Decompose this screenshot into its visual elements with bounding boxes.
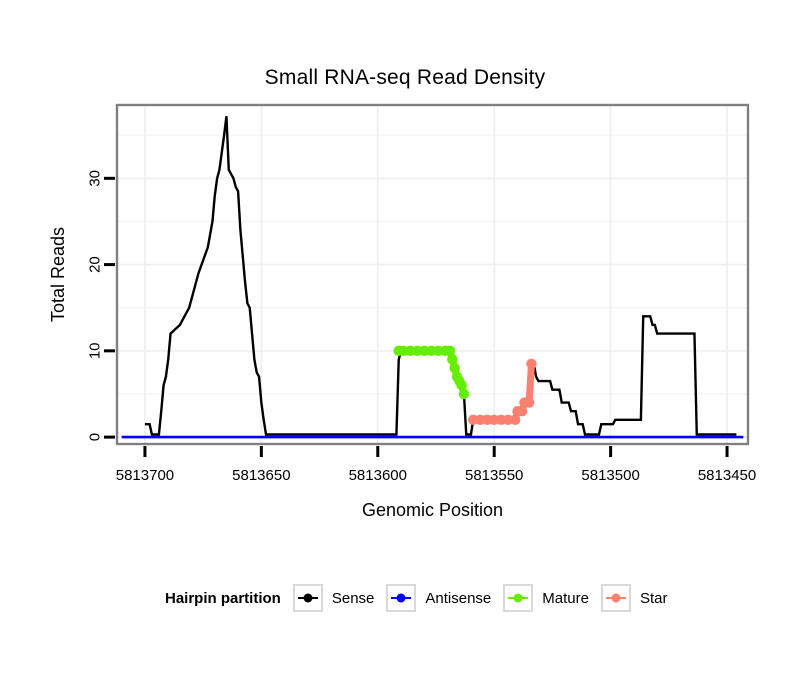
legend-entry-antisense[interactable]: Antisense [374,584,491,612]
legend-dot-icon [303,594,312,603]
series-point-star [526,359,536,369]
legend-entry-star[interactable]: Star [589,584,668,612]
series-point-star [524,397,534,407]
y-tick-label: 20 [87,256,104,273]
y-tick-label: 30 [87,170,104,187]
x-tick-label: 5813500 [581,467,639,484]
x-axis-label: Genomic Position [362,500,503,520]
legend-label: Mature [542,590,589,607]
series-point-mature [459,389,469,399]
legend-label: Sense [332,590,375,607]
legend-label: Star [640,590,668,607]
legend: Hairpin partition SenseAntisenseMatureSt… [165,584,667,612]
chart-canvas: Small RNA-seq Read Density 5813700581365… [0,0,810,690]
x-tick-label: 5813550 [465,467,523,484]
legend-key-mature-icon [503,584,533,612]
legend-key-star-icon [601,584,631,612]
legend-entry-sense[interactable]: Sense [281,584,375,612]
plot-background [117,105,748,444]
y-tick-label: 0 [87,433,104,441]
legend-dot-icon [611,594,620,603]
y-tick-label: 10 [87,342,104,359]
x-tick-label: 5813600 [349,467,407,484]
y-axis-label: Total Reads [48,227,68,322]
legend-key-antisense-icon [386,584,416,612]
x-tick-label: 5813650 [232,467,290,484]
legend-dot-icon [397,594,406,603]
legend-entry-mature[interactable]: Mature [491,584,589,612]
x-tick-label: 5813450 [698,467,756,484]
x-tick-label: 5813700 [116,467,174,484]
legend-title: Hairpin partition [165,590,281,607]
legend-key-sense-icon [293,584,323,612]
legend-label: Antisense [425,590,491,607]
legend-dot-icon [514,594,523,603]
